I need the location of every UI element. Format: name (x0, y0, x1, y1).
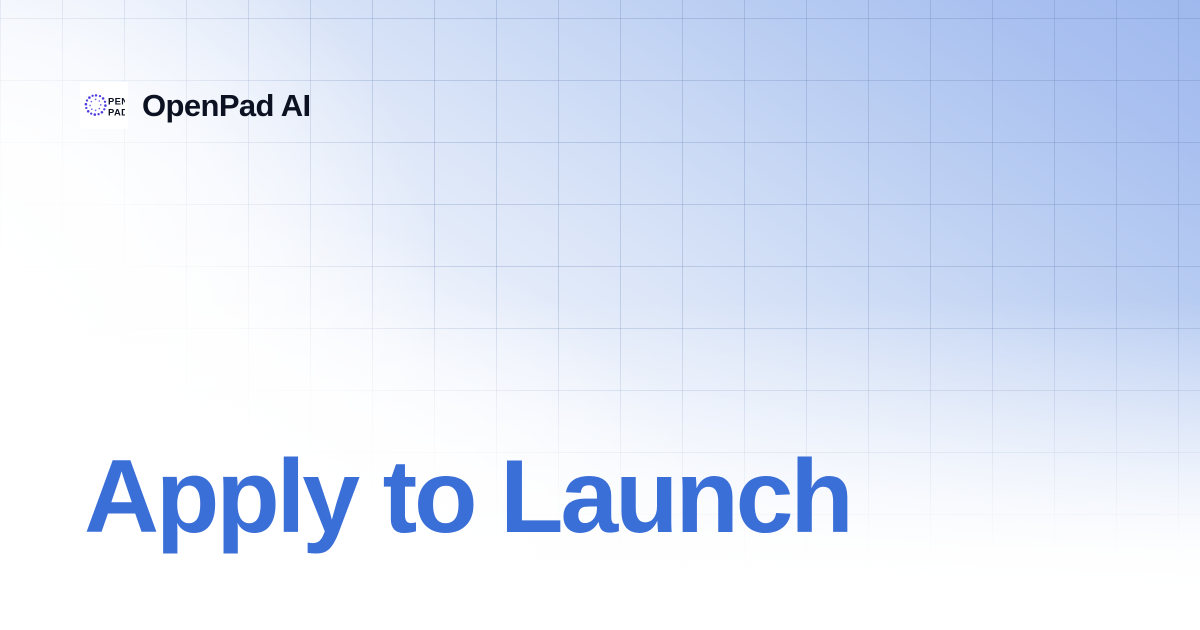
brand-lockup[interactable]: PEN PAD OpenPad AI (80, 82, 311, 129)
card-content: PEN PAD OpenPad AI Apply to Launch (0, 0, 1200, 630)
logo-text-pad: PAD (108, 106, 125, 117)
openpad-logo-icon: PEN PAD (80, 82, 128, 129)
brand-name: OpenPad AI (142, 90, 311, 121)
logo-text-pen: PEN (108, 95, 125, 106)
page-title: Apply to Launch (84, 442, 851, 552)
og-card: PEN PAD OpenPad AI Apply to Launch (0, 0, 1200, 630)
